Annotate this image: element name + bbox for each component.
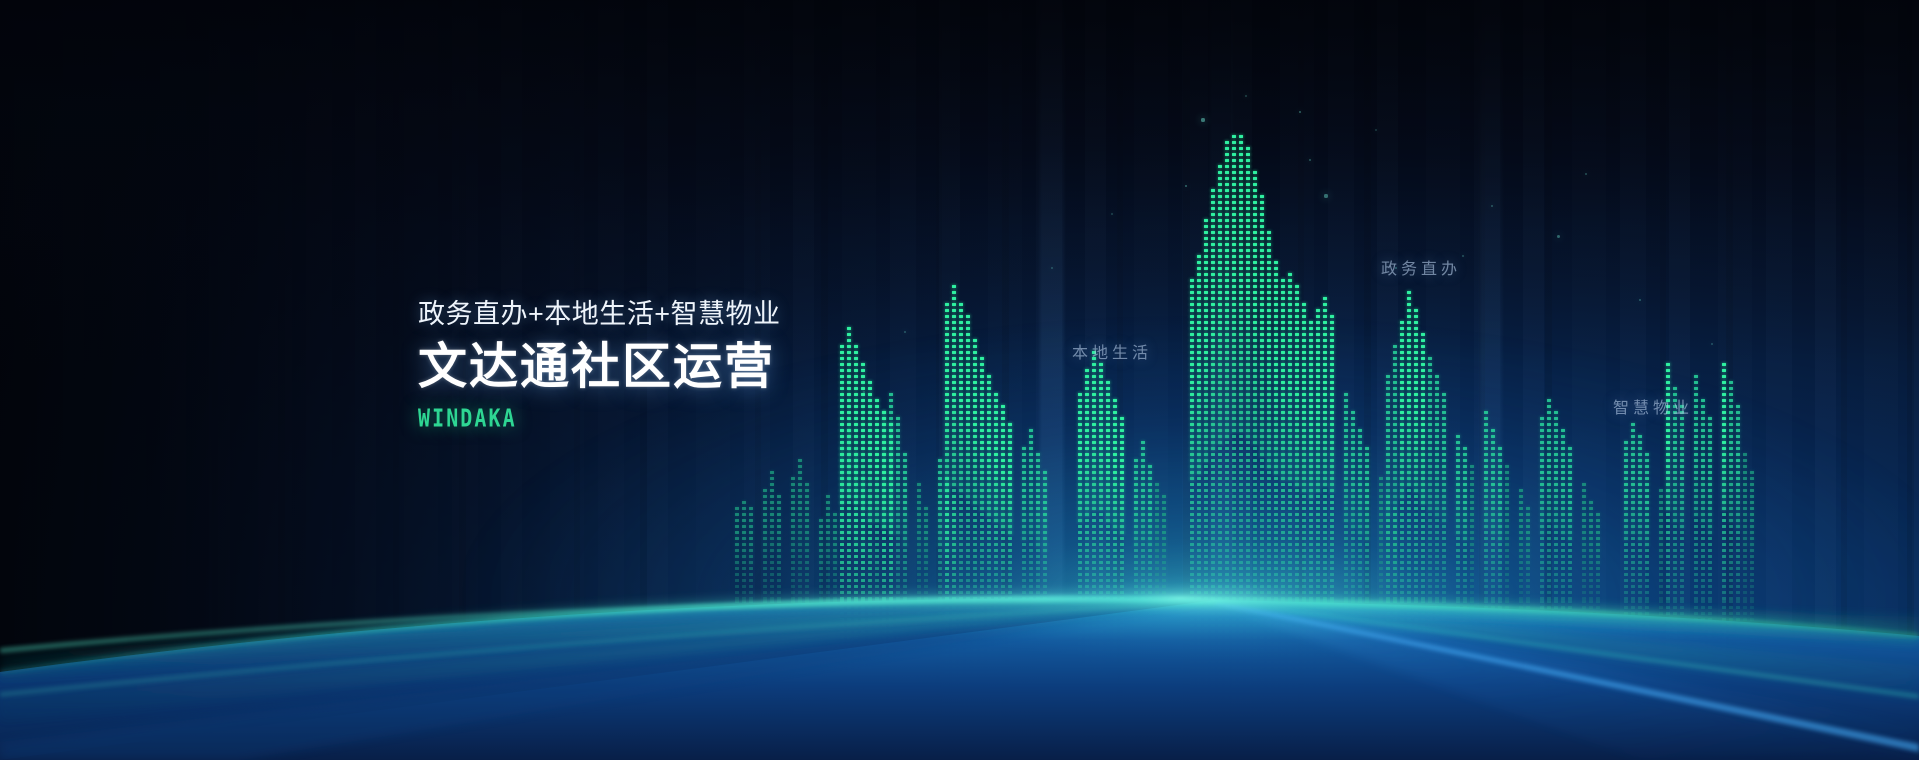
skyline-bar: [791, 474, 795, 600]
skyline-bar-reflection: [735, 600, 739, 634]
brand-wordmark: WINDAKA: [418, 403, 950, 431]
skyline-bar: [1456, 428, 1460, 600]
skyline-bar: [882, 408, 886, 600]
skyline-bar-reflection: [1288, 600, 1292, 714]
skyline-bar-reflection: [1470, 600, 1474, 647]
skyline-bar-reflection: [1491, 600, 1495, 660]
skyline-bar: [1211, 186, 1215, 600]
skyline-bar-reflection: [1638, 600, 1642, 658]
skyline-bar: [1148, 460, 1152, 600]
skyline-bar-reflection: [1582, 600, 1586, 641]
skyline-bar-reflection: [1680, 600, 1684, 667]
skyline-bar-reflection: [1435, 600, 1439, 678]
skyline-bar-reflection: [980, 600, 984, 684]
skyline-bar: [1379, 474, 1383, 600]
skyline-bar: [1547, 394, 1551, 600]
skyline-bar: [1344, 388, 1348, 600]
skyline-bar: [1134, 452, 1138, 600]
skyline-bar-reflection: [1659, 600, 1663, 640]
skyline-bar-reflection: [1750, 600, 1754, 645]
skyline-bar: [749, 504, 753, 600]
skyline-bar-reflection: [1092, 600, 1096, 686]
skyline-bar: [1722, 356, 1726, 600]
skyline-bar-reflection: [1400, 600, 1404, 697]
skyline-bar: [763, 482, 767, 600]
skyline-bar: [1001, 402, 1005, 600]
skyline-bar-reflection: [1414, 600, 1418, 701]
floating-label-zhengwuzhiban: 政务直办: [1381, 255, 1461, 279]
skyline-bar-reflection: [1505, 600, 1509, 648]
skyline-bar-reflection: [1148, 600, 1152, 648]
skyline-bar: [1197, 248, 1201, 600]
skyline-bar-reflection: [1386, 600, 1390, 679]
skyline-bar: [1036, 450, 1040, 600]
skyline-bar: [1204, 216, 1208, 600]
skyline-bar-reflection: [1743, 600, 1747, 651]
skyline-bar: [1267, 224, 1271, 600]
skyline-bar-reflection: [777, 600, 781, 637]
skyline-bar: [1225, 138, 1229, 600]
skyline-bar-reflection: [994, 600, 998, 672]
skyline-bar: [1099, 360, 1103, 600]
floating-label-zhihuiwuye: 智慧物业: [1613, 394, 1693, 418]
skyline-bar-reflection: [1078, 600, 1082, 673]
skyline-bar: [1736, 398, 1740, 600]
skyline-bar-reflection: [791, 600, 795, 643]
skyline-bar: [1393, 342, 1397, 600]
skyline-bar-reflection: [1596, 600, 1600, 631]
skyline-bar: [1708, 414, 1712, 600]
skyline-bar-reflection: [952, 600, 956, 708]
skyline-bar-reflection: [1190, 600, 1194, 712]
skyline-bar: [1309, 316, 1313, 600]
skyline-bar-reflection: [1393, 600, 1397, 688]
skyline-bar-reflection: [1673, 600, 1677, 675]
skyline-bar-reflection: [1239, 600, 1243, 760]
skyline-bar: [1218, 158, 1222, 600]
floating-label-bendishenghuo: 本地生活: [1072, 339, 1152, 363]
skyline-bar: [777, 490, 781, 600]
skyline-bar-reflection: [966, 600, 970, 698]
skyline-bar-reflection: [1197, 600, 1201, 720]
skyline-bar: [1505, 458, 1509, 600]
skyline-bar: [1407, 288, 1411, 600]
skyline-bar-reflection: [917, 600, 921, 641]
skyline-bar-reflection: [826, 600, 830, 637]
skyline-bar-reflection: [1729, 600, 1733, 675]
skyline-bar-reflection: [1421, 600, 1425, 692]
skyline-bar: [1358, 424, 1362, 600]
skyline-bar: [770, 468, 774, 600]
skyline-bar: [938, 454, 942, 600]
skyline-bar-reflection: [1001, 600, 1005, 667]
skyline-bar-reflection: [1029, 600, 1033, 660]
skyline-bar: [798, 454, 802, 600]
skyline-bar-reflection: [1330, 600, 1334, 699]
skyline-bar: [1029, 424, 1033, 600]
skyline-bar: [1113, 396, 1117, 600]
skyline-bar-reflection: [1379, 600, 1383, 643]
skyline-bar: [1008, 418, 1012, 600]
skyline-bar: [1484, 406, 1488, 600]
hero-subtitle: 政务直办+本地生活+智慧物业: [418, 298, 978, 332]
skyline-bar: [1435, 370, 1439, 600]
skyline-bar: [1638, 430, 1642, 600]
skyline-bar: [1589, 494, 1593, 600]
skyline-bar: [1386, 368, 1390, 600]
skyline-bar-reflection: [1316, 600, 1320, 701]
skyline-bar: [1043, 466, 1047, 600]
skyline-bar-reflection: [1519, 600, 1523, 639]
skyline-bar-reflection: [1554, 600, 1558, 665]
skyline-bar: [1540, 412, 1544, 600]
skyline-bar: [1568, 444, 1572, 600]
skyline-bar-reflection: [882, 600, 886, 665]
skyline-bar: [1316, 304, 1320, 600]
skyline-bar-reflection: [1274, 600, 1278, 717]
skyline-bar-reflection: [973, 600, 977, 690]
skyline-bar-reflection: [819, 600, 823, 629]
skyline-bar-reflection: [1295, 600, 1299, 708]
skyline-bar: [1022, 440, 1026, 600]
skyline-bar: [1750, 468, 1754, 600]
skyline-bar: [1400, 314, 1404, 600]
skyline-bar-reflection: [833, 600, 837, 632]
skyline-bar-reflection: [1540, 600, 1544, 664]
skyline-bar-reflection: [1211, 600, 1215, 741]
skyline-bar-reflection: [1526, 600, 1530, 634]
skyline-bar-reflection: [749, 600, 753, 633]
skyline-bar-reflection: [1155, 600, 1159, 641]
skyline-bar: [903, 446, 907, 600]
skyline-bar-reflection: [1225, 600, 1229, 757]
skyline-bar: [1428, 350, 1432, 600]
skyline-bar: [1106, 378, 1110, 600]
skyline-bar-reflection: [854, 600, 858, 689]
skyline-bar-reflection: [945, 600, 949, 702]
skyline-bar: [1274, 256, 1278, 600]
skyline-bar-reflection: [1631, 600, 1635, 663]
skyline-bar-reflection: [1232, 600, 1236, 760]
skyline-bar-reflection: [889, 600, 893, 661]
skyline-bar: [1631, 416, 1635, 600]
skyline-bar: [896, 414, 900, 600]
skyline-bar-reflection: [847, 600, 851, 694]
skyline-bar-reflection: [1722, 600, 1726, 683]
skyline-bar-reflection: [1113, 600, 1117, 669]
skyline-bar-reflection: [1498, 600, 1502, 654]
skyline-bar-reflection: [1701, 600, 1705, 670]
skyline-bar: [1624, 434, 1628, 600]
skyline-bar: [1498, 442, 1502, 600]
skyline-bar: [1190, 272, 1194, 600]
skyline-bar: [1463, 444, 1467, 600]
skyline-bar-reflection: [1036, 600, 1040, 651]
skyline-bar: [1561, 426, 1565, 600]
skyline-bar-reflection: [1120, 600, 1124, 664]
skyline-bar-reflection: [1708, 600, 1712, 663]
skyline-bar-reflection: [1043, 600, 1047, 646]
skyline-bar-reflection: [1561, 600, 1565, 659]
skyline-bar-reflection: [1407, 600, 1411, 706]
skyline-bar: [1092, 348, 1096, 600]
hero-banner: 政务直办+本地生活+智慧物业 文达通社区运营 WINDAKA 政务直办 本地生活…: [0, 0, 1919, 760]
skyline-bar: [1470, 462, 1474, 600]
skyline-bar: [833, 506, 837, 600]
skyline-bar-reflection: [1456, 600, 1460, 658]
skyline-bar: [1120, 412, 1124, 600]
skyline-bar-reflection: [959, 600, 963, 703]
skyline-bar: [1526, 500, 1530, 600]
skyline-bar-reflection: [868, 600, 872, 675]
skyline-bar-reflection: [1694, 600, 1698, 678]
skyline-bar-reflection: [896, 600, 900, 663]
skyline-bar-reflection: [1358, 600, 1362, 660]
skyline-bar: [1302, 300, 1306, 600]
skyline-bar-reflection: [763, 600, 767, 640]
skyline-bar-reflection: [1323, 600, 1327, 705]
skyline-bar-reflection: [1260, 600, 1264, 739]
skyline-bar: [889, 420, 893, 600]
skyline-bar: [1232, 128, 1236, 600]
skyline-bar-reflection: [938, 600, 942, 650]
skyline-bar-reflection: [1736, 600, 1740, 669]
skyline-bar-reflection: [1162, 600, 1166, 637]
skyline-bar-reflection: [861, 600, 865, 682]
skyline-bar: [1491, 424, 1495, 600]
skyline-bar-reflection: [1253, 600, 1257, 748]
skyline-bar-reflection: [1428, 600, 1432, 685]
skyline-bar-reflection: [1106, 600, 1110, 675]
skyline-bar: [1519, 484, 1523, 600]
skyline-bar: [1141, 434, 1145, 600]
skyline-bar-reflection: [1281, 600, 1285, 711]
skyline-bar: [917, 478, 921, 600]
skyline-bar: [826, 492, 830, 600]
skyline-bar-reflection: [1547, 600, 1551, 670]
skyline-bar-reflection: [1442, 600, 1446, 671]
skyline-bar: [1596, 508, 1600, 600]
skyline-bar-reflection: [1365, 600, 1369, 654]
skyline-bar-reflection: [1302, 600, 1306, 702]
skyline-bar-reflection: [1218, 600, 1222, 750]
skyline-bar: [1582, 478, 1586, 600]
skyline-bar: [1365, 442, 1369, 600]
skyline-bar: [1246, 142, 1250, 600]
hero-copy-block: 政务直办+本地生活+智慧物业 文达通社区运营 WINDAKA: [418, 298, 978, 430]
skyline-bar: [987, 372, 991, 600]
skyline-bar-reflection: [1589, 600, 1593, 636]
skyline-bar-reflection: [1484, 600, 1488, 666]
skyline-bar-reflection: [1134, 600, 1138, 650]
skyline-bar-reflection: [1141, 600, 1145, 656]
skyline-bar-reflection: [1022, 600, 1026, 654]
skyline-bar-reflection: [1204, 600, 1208, 731]
skyline-bar-reflection: [1344, 600, 1348, 672]
skyline-bar: [1323, 290, 1327, 600]
skyline-bar: [1554, 408, 1558, 600]
skyline-bar: [805, 480, 809, 600]
skyline-bar: [1680, 402, 1684, 600]
skyline-bar: [1729, 378, 1733, 600]
skyline-bar: [1351, 404, 1355, 600]
skyline-bar-reflection: [742, 600, 746, 635]
skyline-bar-reflection: [798, 600, 802, 650]
skyline-bar: [742, 496, 746, 600]
skyline-bar: [1295, 282, 1299, 600]
skyline-bar: [1743, 450, 1747, 600]
skyline-bar-reflection: [875, 600, 879, 670]
skyline-bar: [1281, 274, 1285, 600]
skyline-bar: [1085, 364, 1089, 600]
skyline-bar-reflection: [903, 600, 907, 652]
skyline-bar: [1155, 478, 1159, 600]
skyline-bar: [980, 354, 984, 600]
skyline-bar: [1078, 386, 1082, 600]
skyline-bar: [1659, 482, 1663, 600]
skyline-bar: [1421, 328, 1425, 600]
skyline-bar-reflection: [987, 600, 991, 678]
skyline-bar-reflection: [924, 600, 928, 634]
skyline-bar: [1330, 308, 1334, 600]
skyline-bar-reflection: [1568, 600, 1572, 653]
skyline-bar-reflection: [770, 600, 774, 645]
skyline-bar: [1694, 372, 1698, 600]
skyline-bar-reflection: [1463, 600, 1467, 653]
hero-title: 文达通社区运营: [418, 340, 978, 395]
skyline-bar: [735, 500, 739, 600]
skyline-bar: [924, 500, 928, 600]
skyline-bar-reflection: [1085, 600, 1089, 680]
skyline-bar-reflection: [805, 600, 809, 641]
skyline-bar-reflection: [1008, 600, 1012, 662]
skyline-bar-reflection: [1645, 600, 1649, 652]
skyline-bar-reflection: [1309, 600, 1313, 697]
skyline-bar: [994, 388, 998, 600]
skyline-bar: [1701, 394, 1705, 600]
skyline-bar: [1645, 448, 1649, 600]
skyline-bar-reflection: [1099, 600, 1103, 682]
skyline-bar: [1414, 304, 1418, 600]
skyline-bar: [1288, 266, 1292, 600]
skyline-bar-reflection: [1351, 600, 1355, 667]
skyline-bar-reflection: [1267, 600, 1271, 728]
skyline-bar: [1253, 164, 1257, 600]
skyline-bar: [1442, 390, 1446, 600]
skyline-bar-reflection: [1246, 600, 1250, 756]
skyline-bar: [1260, 192, 1264, 600]
skyline-bar-reflection: [1666, 600, 1670, 682]
skyline-bar: [1162, 492, 1166, 600]
skyline-bar-reflection: [1624, 600, 1628, 656]
skyline-bar: [819, 514, 823, 600]
skyline-bar: [1239, 130, 1243, 600]
skyline-bar-reflection: [840, 600, 844, 688]
